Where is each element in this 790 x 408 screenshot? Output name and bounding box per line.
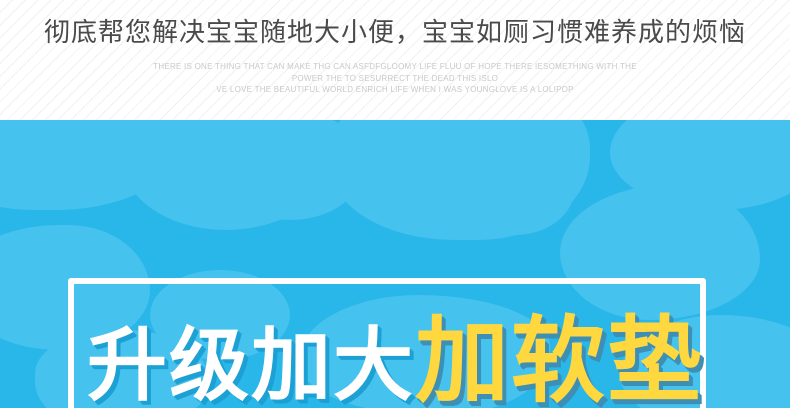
page-title: 彻底帮您解决宝宝随地大小便，宝宝如厕习惯难养成的烦恼 — [0, 17, 790, 49]
promo-banner-page: 彻底帮您解决宝宝随地大小便，宝宝如厕习惯难养成的烦恼 THERE IS ONE … — [0, 0, 790, 408]
subtitle-block: THERE IS ONE THING THAT CAN MAKE THG CAN… — [0, 61, 790, 96]
subtitle-line-3: VE LOVE THE BEAUTIFUL WORLD ENRICH LIFE … — [0, 84, 790, 96]
hero-slogan-yellow-text: 加软垫 — [415, 307, 703, 408]
blue-hero-section: 升级加大加软垫 给宝宝一个健康安全的如厕环境 — [0, 120, 790, 408]
subtitle-line-1: THERE IS ONE THING THAT CAN MAKE THG CAN… — [0, 61, 790, 73]
decor-blob-shape — [455, 140, 575, 235]
hero-slogan-white-text: 升级加大 — [87, 319, 415, 408]
hero-slogan: 升级加大加软垫 — [0, 316, 790, 408]
subtitle-line-2: POWER THE TO SESURRECT THE DEAD THIS ISL… — [0, 73, 790, 85]
top-banner-section: 彻底帮您解决宝宝随地大小便，宝宝如厕习惯难养成的烦恼 THERE IS ONE … — [0, 0, 790, 120]
